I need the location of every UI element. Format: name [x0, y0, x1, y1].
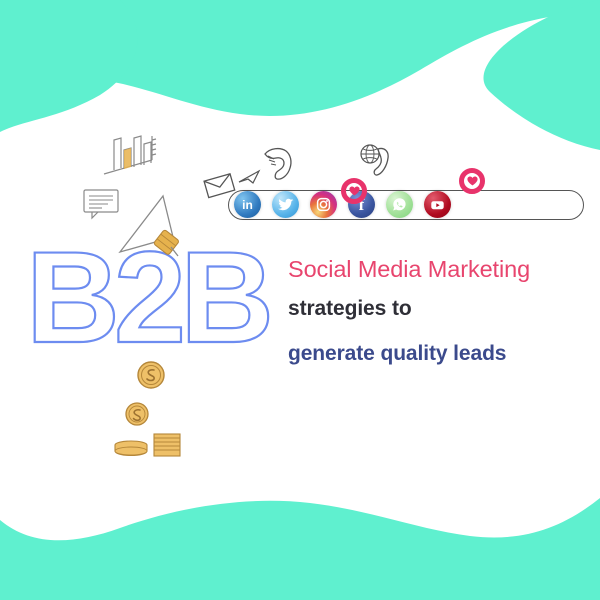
- megaphone-doodle: [116, 190, 186, 260]
- twitter-bird-glyph: [278, 198, 294, 212]
- book-block: [154, 434, 180, 456]
- heart-icon: [349, 186, 360, 196]
- coin-doodle-1: [136, 360, 166, 390]
- instagram-camera-glyph: [316, 197, 331, 212]
- heart-icon: [467, 176, 478, 186]
- linkedin-glyph: in: [242, 199, 253, 211]
- headline-block: Social Media Marketing strategies to gen…: [288, 252, 588, 376]
- teal-left-shape: [0, 0, 137, 132]
- heart-badge-left[interactable]: [341, 178, 367, 204]
- youtube-play-glyph: [430, 199, 445, 211]
- linkedin-icon[interactable]: in: [234, 191, 261, 218]
- stacked-bars: [115, 441, 147, 456]
- bar-chart-doodle: [100, 130, 160, 182]
- headline-line-2: strategies to: [288, 286, 588, 331]
- youtube-icon[interactable]: [424, 191, 451, 218]
- whatsapp-icon[interactable]: [386, 191, 413, 218]
- headline-line-1: Social Media Marketing: [288, 252, 588, 286]
- paper-plane-doodle: [237, 168, 263, 188]
- pointing-hand-doodle: [262, 145, 296, 183]
- poster-canvas: B2B: [0, 0, 600, 600]
- whatsapp-phone-glyph: [392, 197, 407, 212]
- instagram-icon[interactable]: [310, 191, 337, 218]
- globe-hand-doodle: [358, 141, 398, 179]
- social-media-search-bar[interactable]: in f: [228, 190, 584, 220]
- heart-badge-right[interactable]: [459, 168, 485, 194]
- book-stack-doodle: [114, 432, 184, 466]
- twitter-icon[interactable]: [272, 191, 299, 218]
- coin-doodle-2: [124, 401, 150, 427]
- headline-line-3: generate quality leads: [288, 331, 588, 376]
